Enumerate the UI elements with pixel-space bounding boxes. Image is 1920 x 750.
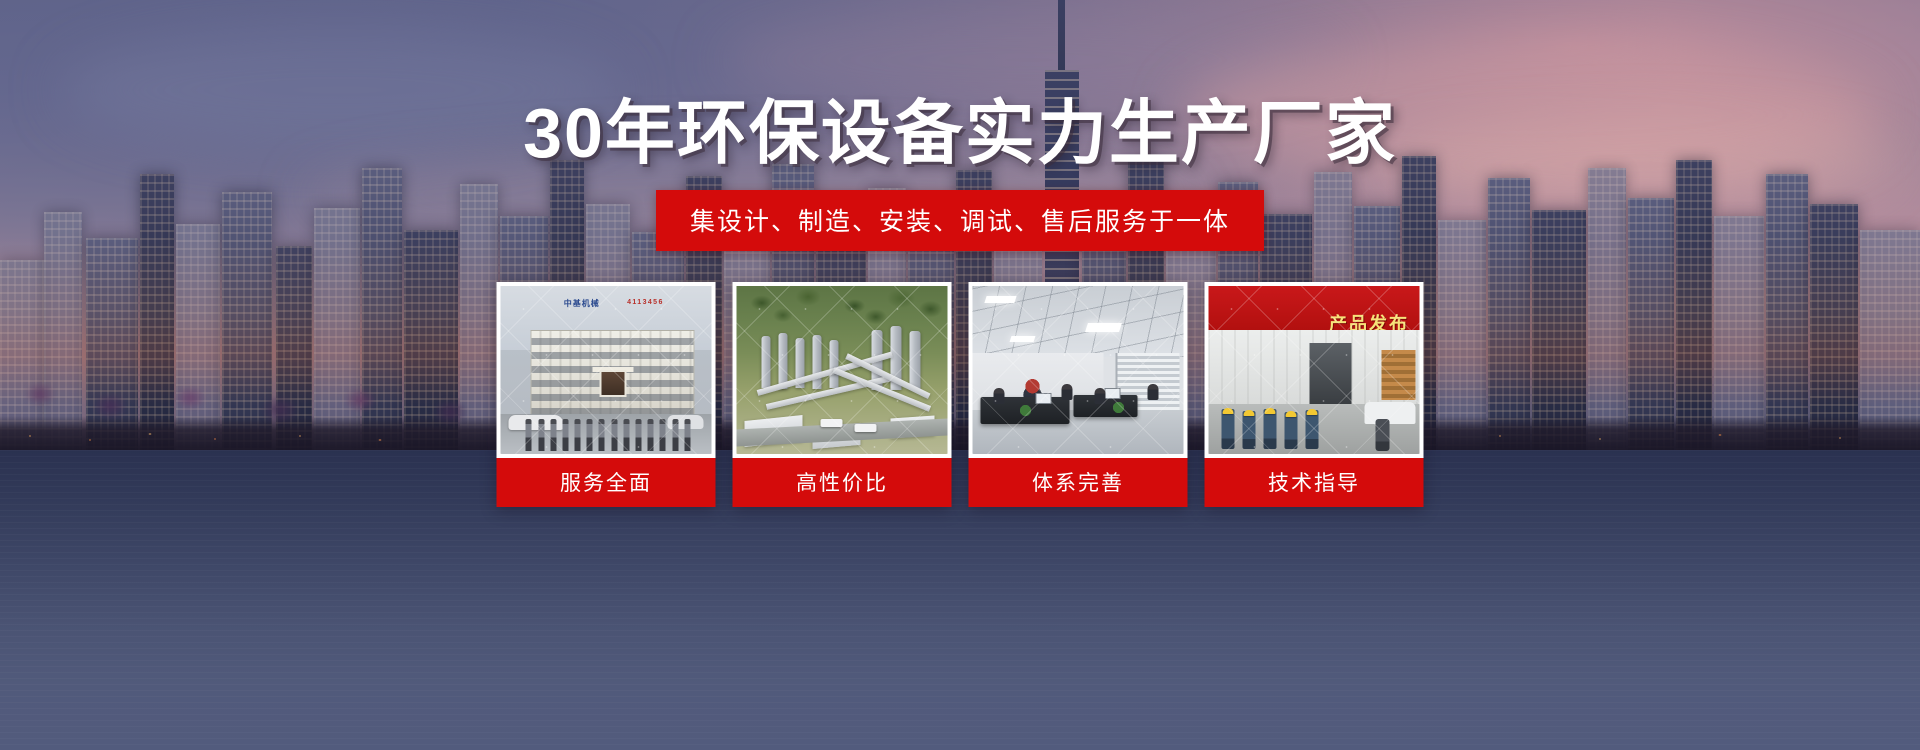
workshop-team-photo: 产品发布 bbox=[1209, 286, 1420, 454]
company-headquarters-photo: 中基机械 4113456 bbox=[501, 286, 712, 454]
staff-lineup bbox=[526, 414, 691, 451]
feature-card[interactable]: 中基机械 4113456 bbox=[497, 282, 716, 507]
building-sign-text: 中基机械 bbox=[564, 298, 600, 309]
feature-card-caption: 体系完善 bbox=[969, 458, 1188, 507]
subtitle-badge: 集设计、制造、安装、调试、售后服务于一体 bbox=[656, 190, 1264, 251]
feature-card-list: 中基机械 4113456 bbox=[497, 282, 1424, 507]
feature-card[interactable]: 体系完善 bbox=[969, 282, 1188, 507]
feature-card-caption: 服务全面 bbox=[497, 458, 716, 507]
hero-banner: 30年环保设备实力生产厂家 集设计、制造、安装、调试、售后服务于一体 中基机械 … bbox=[0, 0, 1920, 750]
feature-card[interactable]: 高性价比 bbox=[733, 282, 952, 507]
office-interior-photo bbox=[973, 286, 1184, 454]
feature-card-caption: 技术指导 bbox=[1205, 458, 1424, 507]
production-plant-aerial-photo bbox=[737, 286, 948, 454]
building-phone-text: 4113456 bbox=[627, 299, 664, 306]
feature-card[interactable]: 产品发布 bbox=[1205, 282, 1424, 507]
page-title: 30年环保设备实力生产厂家 bbox=[0, 98, 1920, 168]
feature-card-caption: 高性价比 bbox=[733, 458, 952, 507]
supervisor-figure bbox=[1376, 419, 1390, 451]
banner-content: 30年环保设备实力生产厂家 集设计、制造、安装、调试、售后服务于一体 中基机械 … bbox=[0, 0, 1920, 750]
